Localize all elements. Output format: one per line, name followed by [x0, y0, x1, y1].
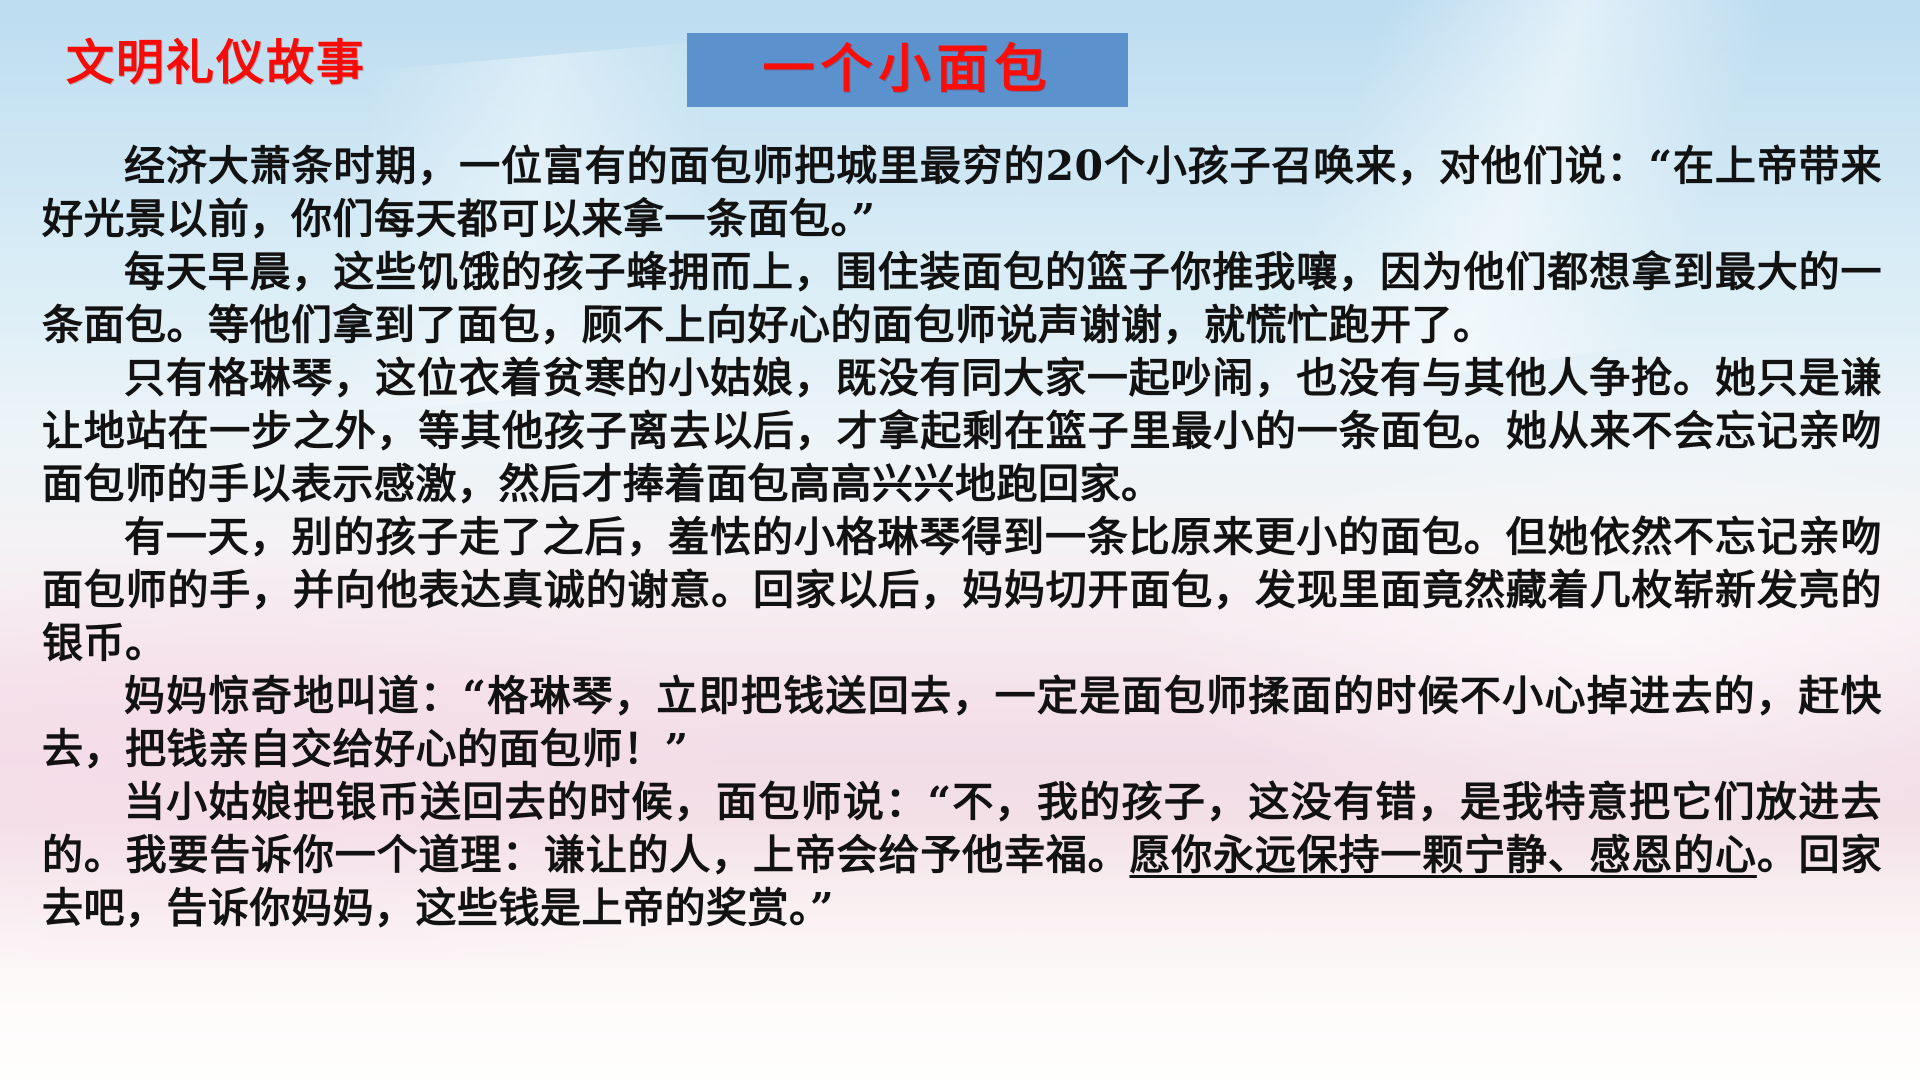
- story-paragraph: 每天早晨，这些饥饿的孩子蜂拥而上，围住装面包的篮子你推我嚷，因为他们都想拿到最大…: [42, 246, 1882, 352]
- story-paragraph: 经济大萧条时期，一位富有的面包师把城里最穷的20个小孩子召唤来，对他们说：“在上…: [42, 140, 1882, 246]
- story-paragraph: 有一天，别的孩子走了之后，羞怯的小格琳琴得到一条比原来更小的面包。但她依然不忘记…: [42, 511, 1882, 670]
- slide-title-box: 一个小面包: [687, 33, 1128, 107]
- story-paragraph: 妈妈惊奇地叫道：“格琳琴，立即把钱送回去，一定是面包师揉面的时候不小心掉进去的，…: [42, 670, 1882, 776]
- story-paragraph: 只有格琳琴，这位衣着贫寒的小姑娘，既没有同大家一起吵闹，也没有与其他人争抢。她只…: [42, 352, 1882, 511]
- story-paragraph-final: 当小姑娘把银币送回去的时候，面包师说：“不，我的孩子，这没有错，是我特意把它们放…: [42, 776, 1882, 935]
- slide-title: 一个小面包: [762, 40, 1052, 100]
- slide-category-heading: 文明礼仪故事: [66, 34, 366, 92]
- story-body: 经济大萧条时期，一位富有的面包师把城里最穷的20个小孩子召唤来，对他们说：“在上…: [42, 140, 1882, 935]
- final-text-underlined: 愿你永远保持一颗宁静、感恩的心: [1129, 831, 1756, 879]
- slide-canvas: 文明礼仪故事 一个小面包 经济大萧条时期，一位富有的面包师把城里最穷的20个小孩…: [0, 0, 1920, 1080]
